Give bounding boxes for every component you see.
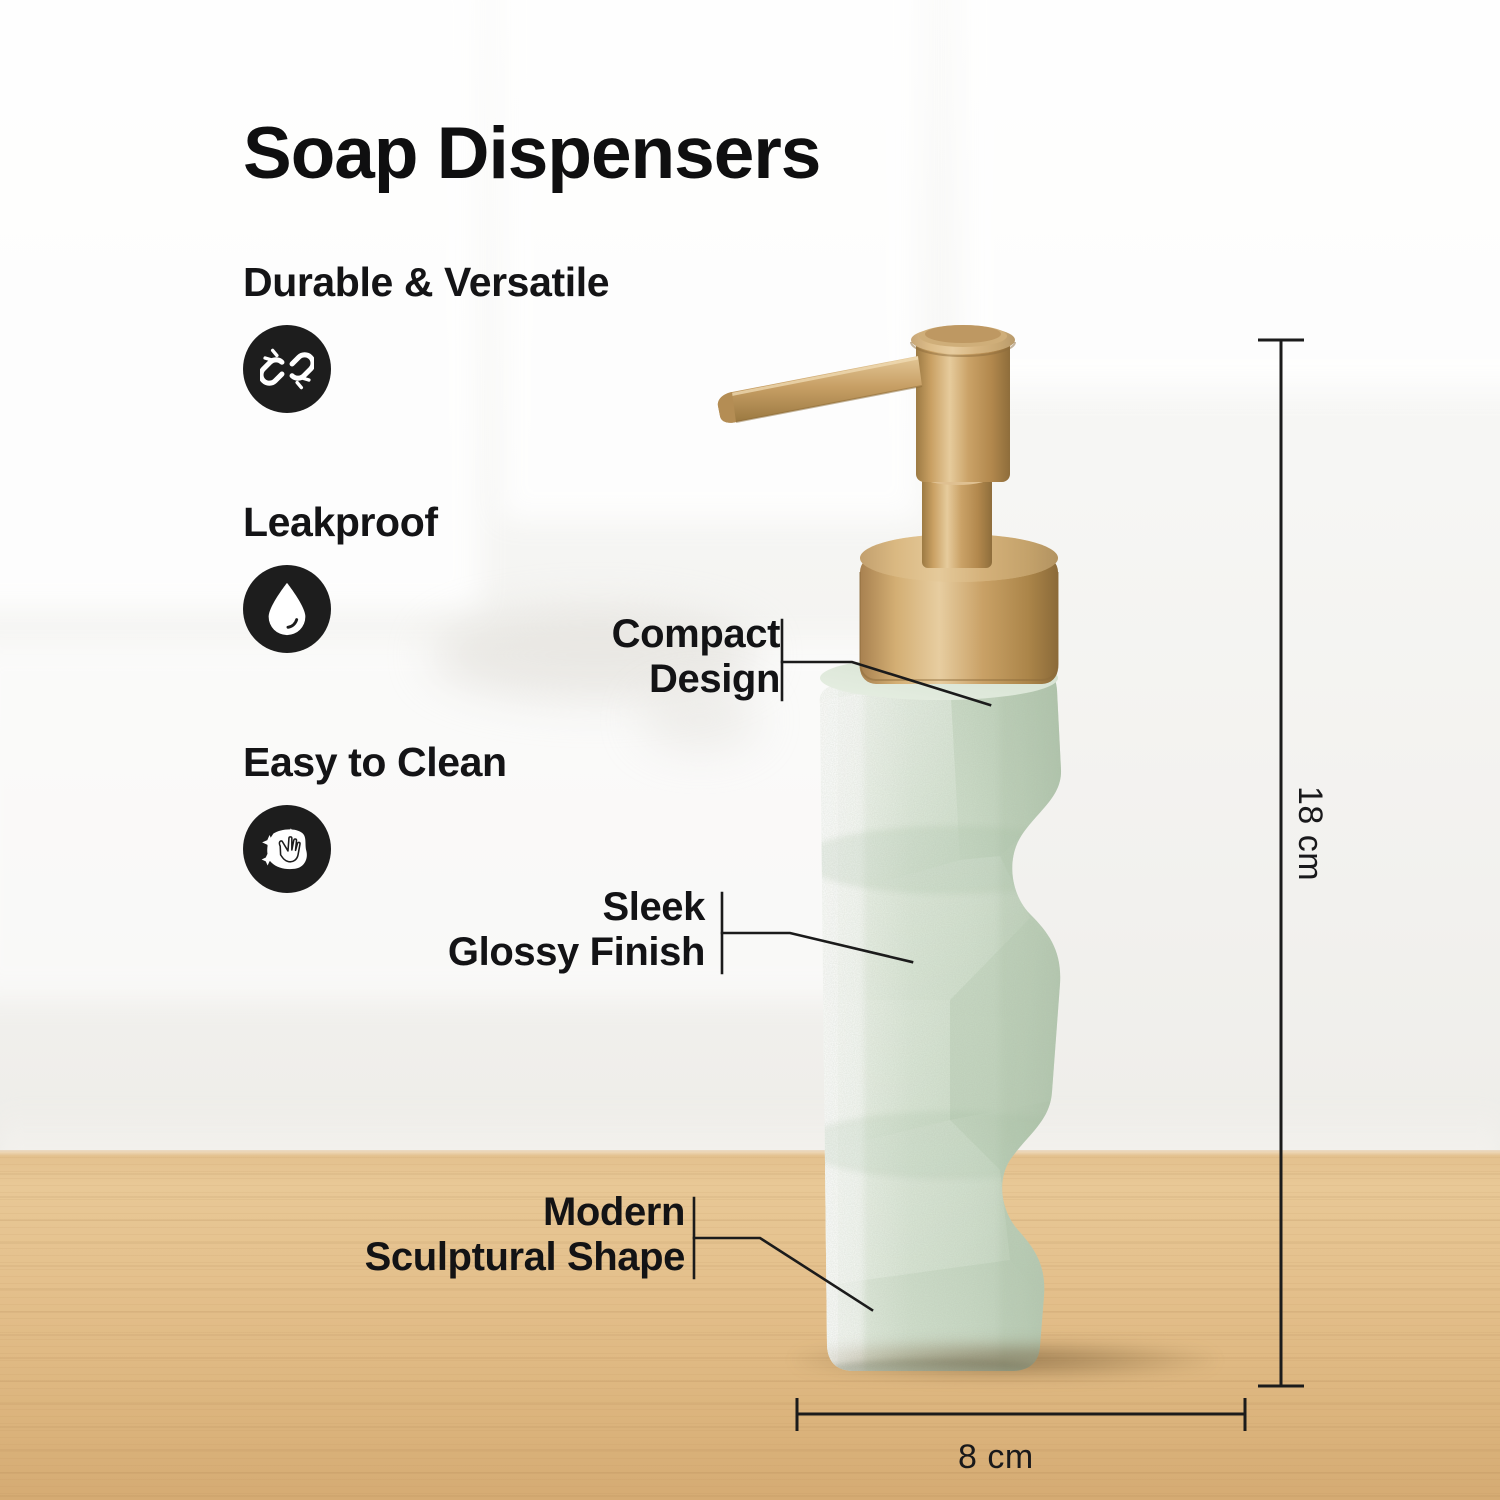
callout-modern-sculptural-shape: Modern Sculptural Shape — [250, 1190, 685, 1280]
callout-sleek-glossy-finish: Sleek Glossy Finish — [300, 885, 705, 975]
callout-line-1: Compact — [380, 612, 780, 657]
page-title: Soap Dispensers — [243, 117, 820, 190]
product-shadow — [795, 1340, 1215, 1380]
dimension-label-height: 18 cm — [1290, 786, 1329, 881]
feature-label: Durable & Versatile — [243, 262, 609, 303]
callout-compact-design: Compact Design — [380, 612, 780, 702]
chain-link-icon — [243, 325, 331, 413]
dimension-label-width: 8 cm — [958, 1438, 1034, 1477]
callout-line-2: Glossy Finish — [300, 930, 705, 975]
product-illustration — [700, 300, 1260, 1420]
water-drop-icon — [243, 565, 331, 653]
soap-dispenser-product — [700, 300, 1260, 1420]
callout-line-1: Modern — [250, 1190, 685, 1235]
feature-item-durable: Durable & Versatile — [243, 262, 609, 413]
hand-wiping-cloth-icon — [243, 805, 331, 893]
feature-label: Easy to Clean — [243, 742, 507, 783]
callout-line-1: Sleek — [300, 885, 705, 930]
callout-line-2: Design — [380, 657, 780, 702]
feature-label: Leakproof — [243, 502, 438, 543]
dispenser-bottle — [800, 656, 1100, 1391]
callout-line-2: Sculptural Shape — [250, 1235, 685, 1280]
feature-item-easy-to-clean: Easy to Clean — [243, 742, 507, 893]
product-infographic: Soap Dispensers Durable & Versatile Leak… — [0, 0, 1500, 1500]
